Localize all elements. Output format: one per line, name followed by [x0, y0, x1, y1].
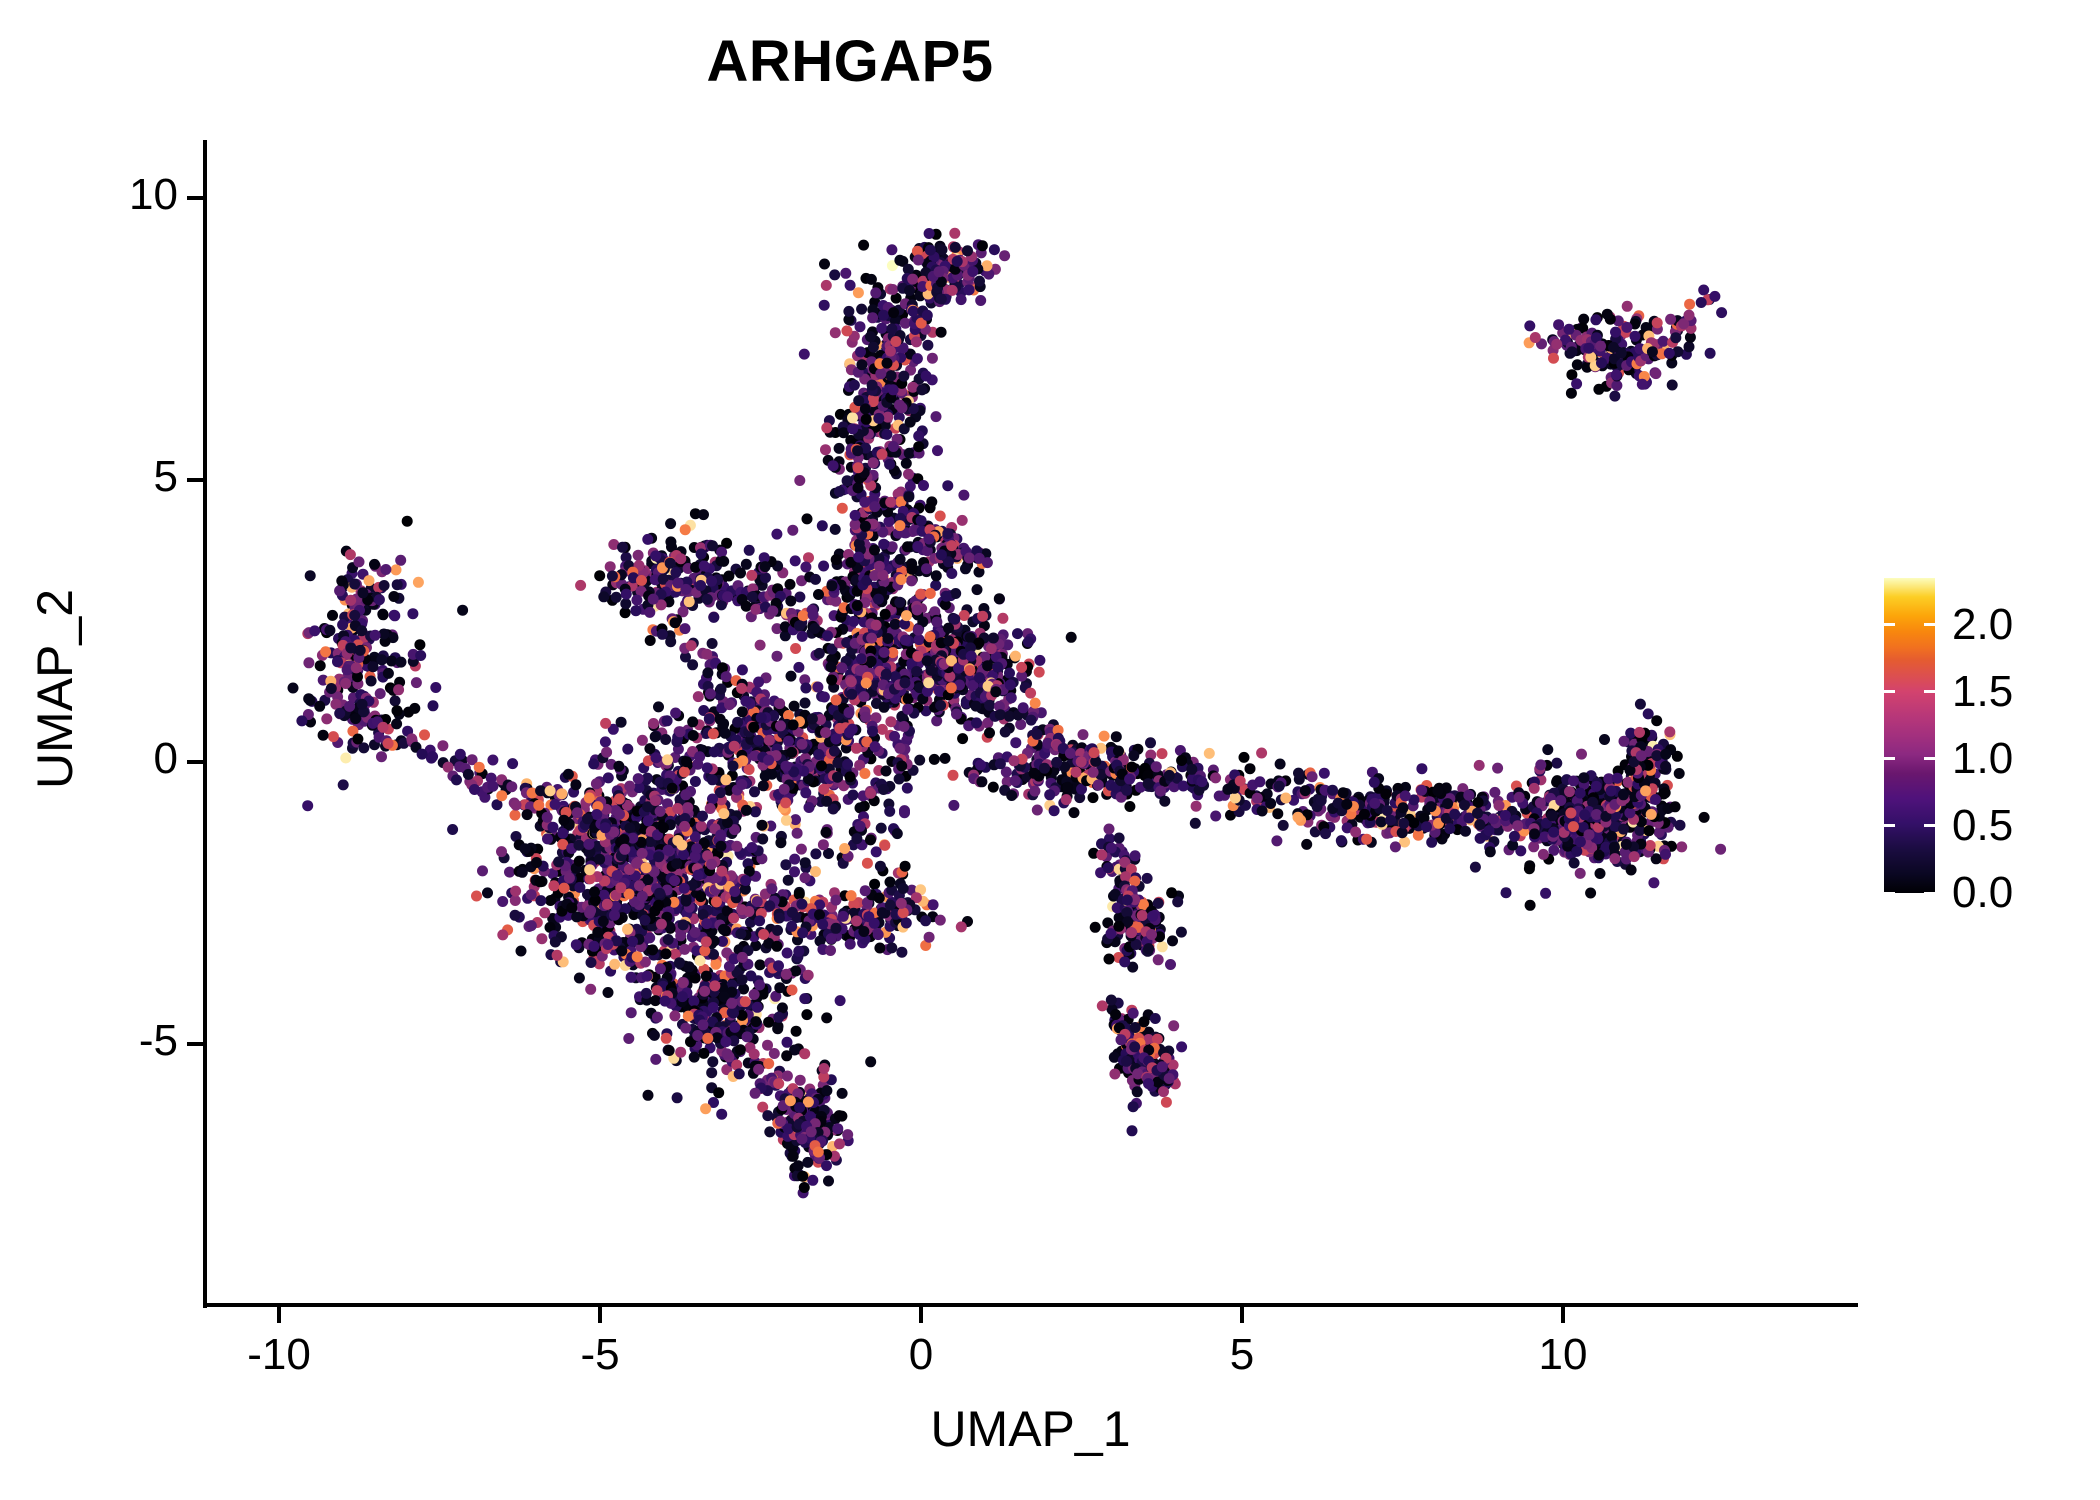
- scatter-point: [334, 708, 345, 719]
- scatter-point: [1376, 816, 1387, 827]
- scatter-plot-canvas: [205, 140, 1855, 1305]
- scatter-point: [845, 280, 856, 291]
- scatter-point: [647, 944, 658, 955]
- scatter-point: [660, 948, 671, 959]
- scatter-point: [806, 1126, 817, 1137]
- scatter-point: [957, 515, 968, 526]
- scatter-point: [977, 611, 988, 622]
- scatter-point: [650, 550, 661, 561]
- scatter-point: [1172, 896, 1183, 907]
- scatter-point: [912, 353, 923, 364]
- scatter-point: [869, 879, 880, 890]
- scatter-point: [698, 1048, 709, 1059]
- scatter-point: [692, 1030, 703, 1041]
- scatter-point: [975, 760, 986, 771]
- scatter-point: [632, 951, 643, 962]
- scatter-point: [693, 691, 704, 702]
- scatter-point: [288, 683, 299, 694]
- scatter-point: [971, 717, 982, 728]
- scatter-point: [949, 614, 960, 625]
- scatter-point: [848, 616, 859, 627]
- scatter-point: [924, 932, 935, 943]
- scatter-point: [895, 554, 906, 565]
- scatter-point: [707, 540, 718, 551]
- scatter-point: [902, 783, 913, 794]
- scatter-point: [970, 701, 981, 712]
- scatter-point: [1622, 301, 1633, 312]
- scatter-point: [841, 325, 852, 336]
- scatter-point: [699, 561, 710, 572]
- scatter-point: [1489, 787, 1500, 798]
- scatter-point: [1190, 818, 1201, 829]
- scatter-point: [797, 631, 808, 642]
- scatter-point: [664, 1045, 675, 1056]
- chart-page: ARHGAP5 1050-5 -10-50510 UMAP_1 UMAP_2 2…: [0, 0, 2100, 1500]
- scatter-point: [925, 588, 936, 599]
- scatter-point: [643, 1090, 654, 1101]
- scatter-point: [644, 607, 655, 618]
- scatter-point: [800, 787, 811, 798]
- scatter-point: [722, 1048, 733, 1059]
- scatter-point: [471, 891, 482, 902]
- scatter-point: [925, 245, 936, 256]
- scatter-point: [1256, 748, 1267, 759]
- scatter-point: [318, 730, 329, 741]
- scatter-point: [1176, 927, 1187, 938]
- scatter-point: [716, 1109, 727, 1120]
- scatter-point: [718, 556, 729, 567]
- scatter-point: [1634, 727, 1645, 738]
- scatter-point: [303, 657, 314, 668]
- scatter-point: [378, 722, 389, 733]
- scatter-point: [1528, 841, 1539, 852]
- scatter-point: [1630, 331, 1641, 342]
- scatter-point: [734, 1068, 745, 1079]
- scatter-point: [819, 259, 830, 270]
- scatter-point: [1609, 391, 1620, 402]
- scatter-point: [1660, 787, 1671, 798]
- scatter-point: [630, 605, 641, 616]
- scatter-point: [487, 781, 498, 792]
- scatter-point: [769, 1048, 780, 1059]
- scatter-point: [1132, 1086, 1143, 1097]
- scatter-point: [1044, 789, 1055, 800]
- scatter-point: [1643, 708, 1654, 719]
- scatter-point: [417, 749, 428, 760]
- scatter-point: [1618, 824, 1629, 835]
- scatter-point: [1109, 1069, 1120, 1080]
- scatter-point: [1676, 841, 1687, 852]
- scatter-point: [799, 1048, 810, 1059]
- scatter-point: [474, 762, 485, 773]
- scatter-point: [799, 1182, 810, 1193]
- scatter-point: [812, 682, 823, 693]
- scatter-point: [545, 785, 556, 796]
- scatter-point: [819, 300, 830, 311]
- scatter-point: [574, 973, 585, 984]
- scatter-point: [413, 577, 424, 588]
- scatter-point: [787, 525, 798, 536]
- scatter-point: [914, 755, 925, 766]
- scatter-point: [349, 579, 360, 590]
- scatter-point: [716, 684, 727, 695]
- scatter-point: [935, 915, 946, 926]
- scatter-point: [1629, 851, 1640, 862]
- scatter-point: [878, 310, 889, 321]
- scatter-point: [902, 541, 913, 552]
- scatter-point: [786, 671, 797, 682]
- scatter-point: [762, 1110, 773, 1121]
- scatter-point: [931, 411, 942, 422]
- scatter-point: [1272, 808, 1283, 819]
- scatter-point: [1548, 353, 1559, 364]
- scatter-point: [683, 1011, 694, 1022]
- scatter-point: [948, 800, 959, 811]
- scatter-point: [342, 664, 353, 675]
- scatter-point: [1492, 763, 1503, 774]
- scatter-point: [1568, 776, 1579, 787]
- scatter-point: [754, 980, 765, 991]
- scatter-point: [653, 701, 664, 712]
- scatter-point: [621, 589, 632, 600]
- scatter-point: [1016, 662, 1027, 673]
- scatter-point: [813, 589, 824, 600]
- scatter-point: [1168, 1020, 1179, 1031]
- scatter-point: [904, 448, 915, 459]
- scatter-point: [826, 675, 837, 686]
- scatter-point: [750, 604, 761, 615]
- scatter-point: [921, 563, 932, 574]
- scatter-point: [932, 445, 943, 456]
- scatter-point: [855, 346, 866, 357]
- scatter-point: [855, 321, 866, 332]
- scatter-point: [710, 959, 721, 970]
- scatter-point: [356, 625, 367, 636]
- scatter-point: [951, 709, 962, 720]
- scatter-point: [1535, 759, 1546, 770]
- scatter-point: [705, 688, 716, 699]
- scatter-point: [548, 822, 559, 833]
- scatter-point: [867, 312, 878, 323]
- scatter-point: [899, 721, 910, 732]
- scatter-point: [735, 568, 746, 579]
- scatter-point: [1530, 332, 1541, 343]
- scatter-point: [883, 633, 894, 644]
- scatter-point: [905, 417, 916, 428]
- scatter-point: [594, 570, 605, 581]
- scatter-point: [942, 480, 953, 491]
- scatter-point: [794, 1102, 805, 1113]
- scatter-point: [391, 718, 402, 729]
- scatter-point: [799, 349, 810, 360]
- scatter-point: [1651, 715, 1662, 726]
- scatter-point: [698, 1019, 709, 1030]
- scatter-point: [800, 562, 811, 573]
- scatter-point: [856, 359, 867, 370]
- scatter-point: [345, 643, 356, 654]
- scatter-point: [548, 880, 559, 891]
- scatter-point: [1569, 858, 1580, 869]
- scatter-point: [592, 927, 603, 938]
- scatter-point: [767, 606, 778, 617]
- scatter-point: [865, 331, 876, 342]
- scatter-point: [737, 952, 748, 963]
- scatter-point: [566, 902, 577, 913]
- scatter-point: [611, 592, 622, 603]
- scatter-point: [665, 518, 676, 529]
- scatter-point: [732, 717, 743, 728]
- scatter-point: [1609, 842, 1620, 853]
- scatter-point: [388, 591, 399, 602]
- scatter-point: [1012, 628, 1023, 639]
- scatter-point: [826, 580, 837, 591]
- scatter-point: [642, 534, 653, 545]
- scatter-point: [709, 980, 720, 991]
- scatter-point: [463, 769, 474, 780]
- scatter-point: [496, 790, 507, 801]
- scatter-point: [1088, 792, 1099, 803]
- scatter-point: [1049, 805, 1060, 816]
- scatter-point: [556, 788, 567, 799]
- scatter-point: [510, 886, 521, 897]
- scatter-point: [788, 1151, 799, 1162]
- scatter-point: [1153, 954, 1164, 965]
- scatter-point: [708, 1002, 719, 1013]
- scatter-point: [542, 833, 553, 844]
- scatter-point: [344, 701, 355, 712]
- scatter-point: [999, 250, 1010, 261]
- scatter-point: [832, 757, 843, 768]
- scatter-point: [380, 564, 391, 575]
- scatter-point: [803, 552, 814, 563]
- scatter-point: [1621, 839, 1632, 850]
- scatter-point: [1494, 800, 1505, 811]
- scatter-point: [900, 635, 911, 646]
- scatter-point: [746, 570, 757, 581]
- page-title: ARHGAP5: [0, 28, 1700, 95]
- scatter-point: [716, 547, 727, 558]
- scatter-point: [835, 995, 846, 1006]
- scatter-point: [427, 751, 438, 762]
- scatter-point: [814, 648, 825, 659]
- scatter-point: [1501, 887, 1512, 898]
- scatter-point: [708, 612, 719, 623]
- scatter-point: [837, 503, 848, 514]
- scatter-point: [366, 676, 377, 687]
- scatter-point: [510, 910, 521, 921]
- scatter-point: [648, 594, 659, 605]
- scatter-point: [737, 974, 748, 985]
- scatter-point: [1271, 835, 1282, 846]
- scatter-point: [928, 899, 939, 910]
- scatter-point: [649, 1030, 660, 1041]
- scatter-point: [865, 1056, 876, 1067]
- scatter-point: [702, 1033, 713, 1044]
- scatter-point: [1584, 829, 1595, 840]
- scatter-point: [1124, 801, 1135, 812]
- scatter-point: [752, 1002, 763, 1013]
- scatter-point: [552, 950, 563, 961]
- scatter-point: [396, 657, 407, 668]
- scatter-point: [355, 645, 366, 656]
- scatter-point: [1204, 748, 1215, 759]
- scatter-point: [393, 684, 404, 695]
- scatter-point: [1010, 775, 1021, 786]
- scatter-point: [1278, 820, 1289, 831]
- scatter-point: [1578, 772, 1589, 783]
- scatter-point: [935, 700, 946, 711]
- scatter-point: [1416, 763, 1427, 774]
- scatter-point: [896, 574, 907, 585]
- scatter-point: [321, 713, 332, 724]
- scatter-point: [419, 729, 430, 740]
- scatter-point: [802, 1157, 813, 1168]
- scatter-point: [1069, 807, 1080, 818]
- scatter-point: [1660, 849, 1671, 860]
- scatter-point: [314, 701, 325, 712]
- scatter-point: [302, 800, 313, 811]
- scatter-point: [821, 1012, 832, 1023]
- scatter-point: [830, 327, 841, 338]
- scatter-point: [497, 929, 508, 940]
- scatter-point: [1165, 959, 1176, 970]
- scatter-point: [822, 630, 833, 641]
- scatter-point: [831, 554, 842, 565]
- scatter-point: [974, 276, 985, 287]
- scatter-point: [375, 688, 386, 699]
- scatter-point: [915, 589, 926, 600]
- scatter-point: [775, 1116, 786, 1127]
- scatter-point: [785, 1095, 796, 1106]
- scatter-point: [402, 516, 413, 527]
- scatter-point: [328, 731, 339, 742]
- scatter-point: [665, 536, 676, 547]
- scatter-point: [810, 574, 821, 585]
- scatter-point: [958, 490, 969, 501]
- scatter-point: [834, 443, 845, 454]
- scatter-point: [1611, 380, 1622, 391]
- scatter-point: [840, 268, 851, 279]
- scatter-point: [1576, 749, 1587, 760]
- scatter-point: [684, 961, 695, 972]
- scatter-point: [794, 475, 805, 486]
- plot-panel: [205, 140, 1855, 1305]
- scatter-point: [917, 384, 928, 395]
- scatter-point: [511, 800, 522, 811]
- scatter-point: [801, 1009, 812, 1020]
- scatter-point: [376, 654, 387, 665]
- scatter-point: [1699, 812, 1710, 823]
- scatter-point: [821, 422, 832, 433]
- scatter-point: [605, 561, 616, 572]
- scatter-point: [1590, 314, 1601, 325]
- scatter-point: [773, 1078, 784, 1089]
- scatter-point: [813, 749, 824, 760]
- scatter-point: [535, 895, 546, 906]
- scatter-point: [451, 774, 462, 785]
- scatter-point: [742, 1031, 753, 1042]
- scatter-point: [709, 746, 720, 757]
- scatter-point: [395, 555, 406, 566]
- scatter-point: [749, 1049, 760, 1060]
- scatter-point: [794, 620, 805, 631]
- scatter-point: [650, 1054, 661, 1065]
- scatter-point: [790, 643, 801, 654]
- scatter-point: [535, 785, 546, 796]
- scatter-point: [741, 601, 752, 612]
- scatter-point: [837, 1088, 848, 1099]
- scatter-point: [785, 596, 796, 607]
- scatter-point: [927, 353, 938, 364]
- scatter-point: [1575, 788, 1586, 799]
- scatter-point: [1010, 737, 1021, 748]
- scatter-point: [296, 715, 307, 726]
- scatter-point: [834, 1110, 845, 1121]
- scatter-point: [349, 610, 360, 621]
- scatter-point: [1034, 667, 1045, 678]
- scatter-point: [675, 1047, 686, 1058]
- scatter-point: [641, 988, 652, 999]
- scatter-point: [414, 639, 425, 650]
- scatter-point: [1301, 839, 1312, 850]
- scatter-point: [753, 1064, 764, 1075]
- scatter-point: [884, 516, 895, 527]
- scatter-point: [1551, 758, 1562, 769]
- scatter-point: [660, 996, 671, 1007]
- scatter-point: [315, 660, 326, 671]
- scatter-point: [516, 946, 527, 957]
- scatter-point: [687, 659, 698, 670]
- scatter-point: [920, 915, 931, 926]
- scatter-point: [520, 843, 531, 854]
- scatter-point: [1127, 1125, 1138, 1136]
- scatter-point: [737, 706, 748, 717]
- scatter-point: [1626, 865, 1637, 876]
- scatter-point: [1635, 699, 1646, 710]
- scatter-point: [816, 760, 827, 771]
- scatter-point: [790, 966, 801, 977]
- scatter-point: [1066, 632, 1077, 643]
- scatter-point: [409, 703, 420, 714]
- scatter-point: [374, 594, 385, 605]
- scatter-point: [305, 695, 316, 706]
- scatter-point: [1145, 737, 1156, 748]
- scatter-point: [877, 724, 888, 735]
- scatter-point: [912, 651, 923, 662]
- scatter-point: [763, 1017, 774, 1028]
- scatter-point: [352, 734, 363, 745]
- scatter-point: [652, 1012, 663, 1023]
- scatter-point: [1111, 731, 1122, 742]
- scatter-point: [510, 810, 521, 821]
- scatter-point: [645, 635, 656, 646]
- scatter-point: [507, 758, 518, 769]
- scatter-point: [720, 1036, 731, 1047]
- scatter-point: [940, 753, 951, 764]
- scatter-point: [1564, 786, 1575, 797]
- scatter-point: [392, 579, 403, 590]
- scatter-point: [1599, 734, 1610, 745]
- scatter-point: [631, 595, 642, 606]
- scatter-point: [847, 412, 858, 423]
- scatter-point: [943, 635, 954, 646]
- scatter-point: [925, 631, 936, 642]
- scatter-point: [1119, 956, 1130, 967]
- scatter-point: [357, 699, 368, 710]
- scatter-point: [868, 342, 879, 353]
- scatter-point: [787, 985, 798, 996]
- scatter-point: [369, 559, 380, 570]
